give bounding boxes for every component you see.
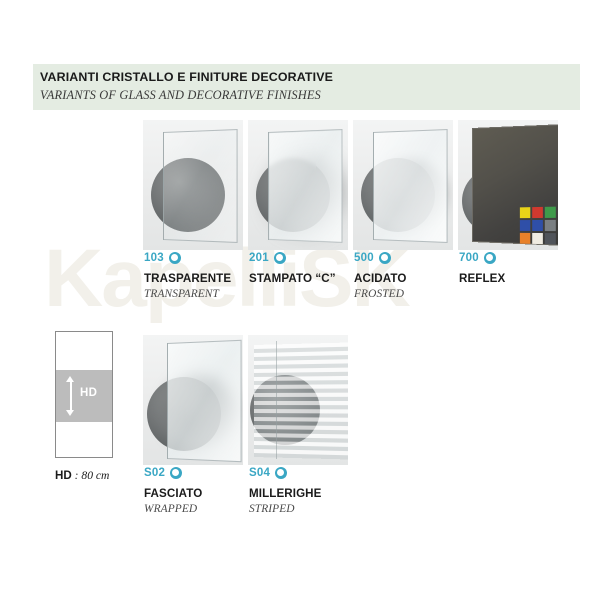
sample-code-row: 700 <box>459 252 496 264</box>
hd-double-arrow-icon <box>65 376 76 416</box>
sample-code-row: S04 <box>249 467 287 479</box>
sample-name-en: FROSTED <box>354 288 404 300</box>
sample-name-en: STRIPED <box>249 503 295 515</box>
sample-name-it: STAMPATO “C” <box>249 272 336 285</box>
catalog-page: KapelliSK VARIANTI CRISTALLO E FINITURE … <box>0 0 600 600</box>
hd-band-label: HD <box>80 387 97 399</box>
sample-code-row: 201 <box>249 252 286 264</box>
hd-caption: HD : 80 cm <box>55 469 109 482</box>
glass-badge-icon <box>274 252 286 264</box>
color-swatch <box>545 233 556 244</box>
sample-code: S02 <box>144 467 165 479</box>
sample-code: S04 <box>249 467 270 479</box>
color-swatch <box>520 207 530 218</box>
glass-sample-transparent-image <box>143 120 243 250</box>
color-swatch <box>520 233 530 244</box>
sample-code-row: S02 <box>144 467 182 479</box>
glass-sample-acidato-image <box>353 120 453 250</box>
sample-code: 201 <box>249 252 269 264</box>
sample-name-it: FASCIATO <box>144 487 202 500</box>
glass-sample-fasciato-image <box>143 335 243 465</box>
sample-name-it: TRASPARENTE <box>144 272 231 285</box>
color-swatch <box>545 207 556 218</box>
color-swatch <box>532 207 543 218</box>
section-header-band: VARIANTI CRISTALLO E FINITURE DECORATIVE… <box>33 64 580 110</box>
glass-badge-icon <box>169 252 181 264</box>
sample-code-row: 500 <box>354 252 391 264</box>
sample-name-it: MILLERIGHE <box>249 487 322 500</box>
page-title: VARIANTI CRISTALLO E FINITURE DECORATIVE <box>40 70 333 84</box>
glass-sample-millerighe-image <box>248 335 348 465</box>
color-swatch <box>545 220 556 231</box>
glass-badge-icon <box>170 467 182 479</box>
hd-caption-key: HD <box>55 469 72 482</box>
sample-name-en: WRAPPED <box>144 503 197 515</box>
hd-diagram: HD <box>55 331 113 458</box>
sample-code: 500 <box>354 252 374 264</box>
glass-badge-icon <box>275 467 287 479</box>
stripe-pattern <box>254 343 348 460</box>
glass-badge-icon <box>484 252 496 264</box>
sample-code: 103 <box>144 252 164 264</box>
sample-name-it: ACIDATO <box>354 272 406 285</box>
sample-name-it: REFLEX <box>459 272 505 285</box>
glass-sample-reflex-image <box>458 120 558 250</box>
sample-name-en: TRANSPARENT <box>144 288 219 300</box>
hd-caption-value: 80 cm <box>81 469 109 482</box>
glass-badge-icon <box>379 252 391 264</box>
sample-code-row: 103 <box>144 252 181 264</box>
color-checker <box>520 207 556 245</box>
glass-sample-stampato-c-image <box>248 120 348 250</box>
hd-caption-sep: : <box>72 469 82 482</box>
color-swatch <box>532 220 543 231</box>
sample-code: 700 <box>459 252 479 264</box>
page-subtitle: VARIANTS OF GLASS AND DECORATIVE FINISHE… <box>40 88 321 103</box>
color-swatch <box>520 220 530 231</box>
color-swatch <box>532 233 543 244</box>
hd-band: HD <box>56 370 112 422</box>
